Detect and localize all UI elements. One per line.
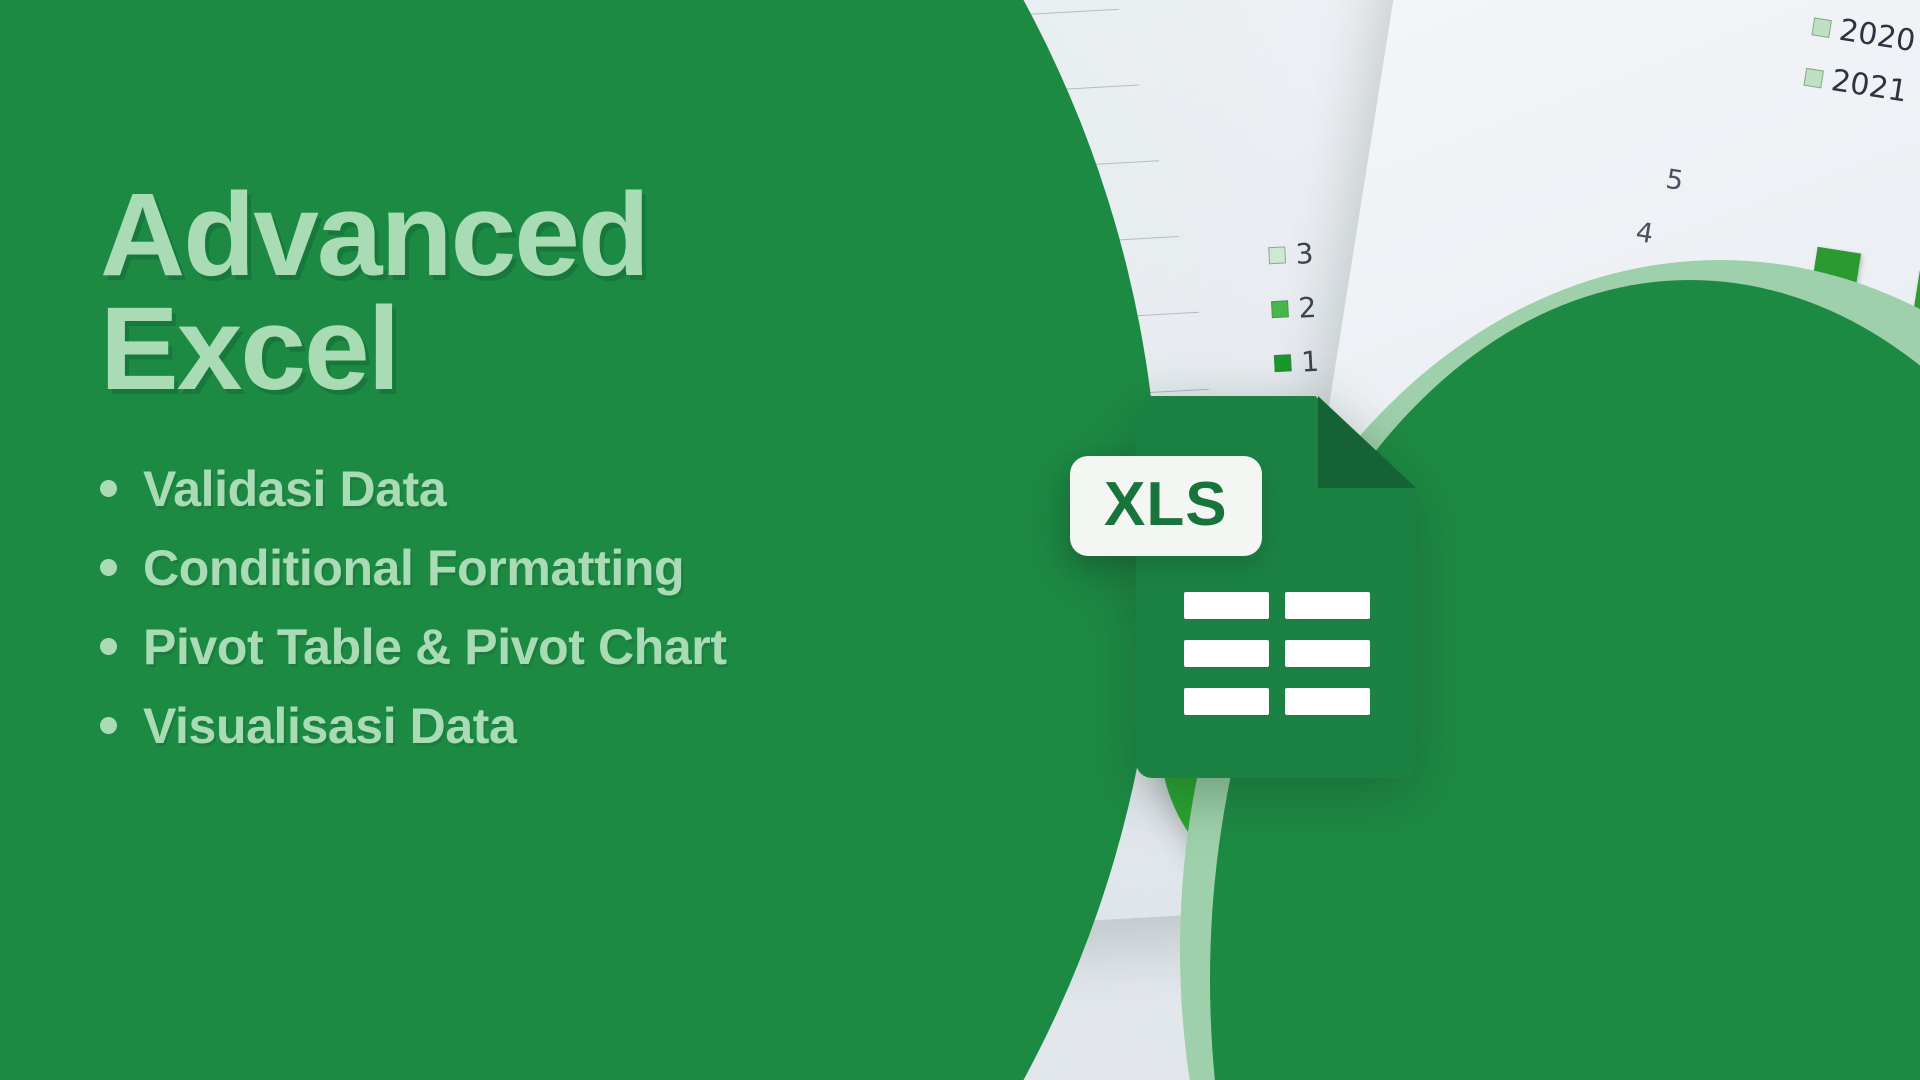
spreadsheet-cell bbox=[1184, 640, 1269, 667]
list-item-label: Validasi Data bbox=[143, 463, 446, 516]
bullet-dot-icon bbox=[100, 638, 117, 655]
spreadsheet-cell bbox=[1285, 592, 1370, 619]
bullet-dot-icon bbox=[100, 480, 117, 497]
legend-swatch bbox=[1803, 67, 1824, 88]
title-line-1: Advanced bbox=[100, 178, 920, 292]
legend-label: 2021 bbox=[1828, 63, 1909, 110]
page-title: Advanced Excel bbox=[100, 178, 920, 407]
spreadsheet-cell bbox=[1285, 640, 1370, 667]
spreadsheet-cell bbox=[1184, 688, 1269, 715]
file-spreadsheet-rows-icon bbox=[1184, 592, 1370, 715]
spreadsheet-cell bbox=[1184, 592, 1269, 619]
xls-badge-label: XLS bbox=[1104, 474, 1228, 536]
legend-item: 2021 bbox=[1802, 59, 1910, 110]
legend-item: 2 bbox=[1271, 291, 1317, 326]
list-item-label: Pivot Table & Pivot Chart bbox=[143, 621, 727, 674]
spreadsheet-cell bbox=[1285, 688, 1370, 715]
legend-label: 2 bbox=[1298, 291, 1318, 325]
photo-right-legend: 2020 2021 bbox=[1799, 9, 1917, 126]
title-line-2: Excel bbox=[100, 292, 920, 406]
legend-item: 1 bbox=[1273, 345, 1319, 380]
banner-content: Advanced Excel Validasi Data Conditional… bbox=[100, 178, 920, 779]
legend-swatch bbox=[1811, 17, 1832, 38]
list-item-label: Conditional Formatting bbox=[143, 542, 684, 595]
spreadsheet-row bbox=[1184, 592, 1370, 619]
list-item: Validasi Data bbox=[100, 463, 920, 516]
spreadsheet-row bbox=[1184, 688, 1370, 715]
list-item: Pivot Table & Pivot Chart bbox=[100, 621, 920, 674]
bullet-dot-icon bbox=[100, 717, 117, 734]
spreadsheet-row bbox=[1184, 640, 1370, 667]
legend-item: 3 bbox=[1268, 237, 1314, 272]
topic-list: Validasi Data Conditional Formatting Piv… bbox=[100, 463, 920, 753]
xls-file-icon: XLS bbox=[1136, 396, 1416, 778]
list-item: Visualisasi Data bbox=[100, 700, 920, 753]
list-item: Conditional Formatting bbox=[100, 542, 920, 595]
advanced-excel-banner: 3 2 1 Product 4 5 4 2017 20 bbox=[0, 0, 1920, 1080]
legend-label: 3 bbox=[1295, 237, 1315, 271]
list-item-label: Visualisasi Data bbox=[143, 700, 516, 753]
photo-chart-legend: 3 2 1 bbox=[1268, 237, 1321, 401]
xls-format-badge: XLS bbox=[1070, 456, 1262, 556]
bullet-dot-icon bbox=[100, 559, 117, 576]
legend-swatch bbox=[1268, 246, 1286, 264]
legend-swatch bbox=[1271, 300, 1289, 318]
legend-label: 1 bbox=[1300, 345, 1320, 379]
file-corner-fold-icon bbox=[1318, 396, 1416, 488]
legend-swatch bbox=[1274, 354, 1292, 372]
